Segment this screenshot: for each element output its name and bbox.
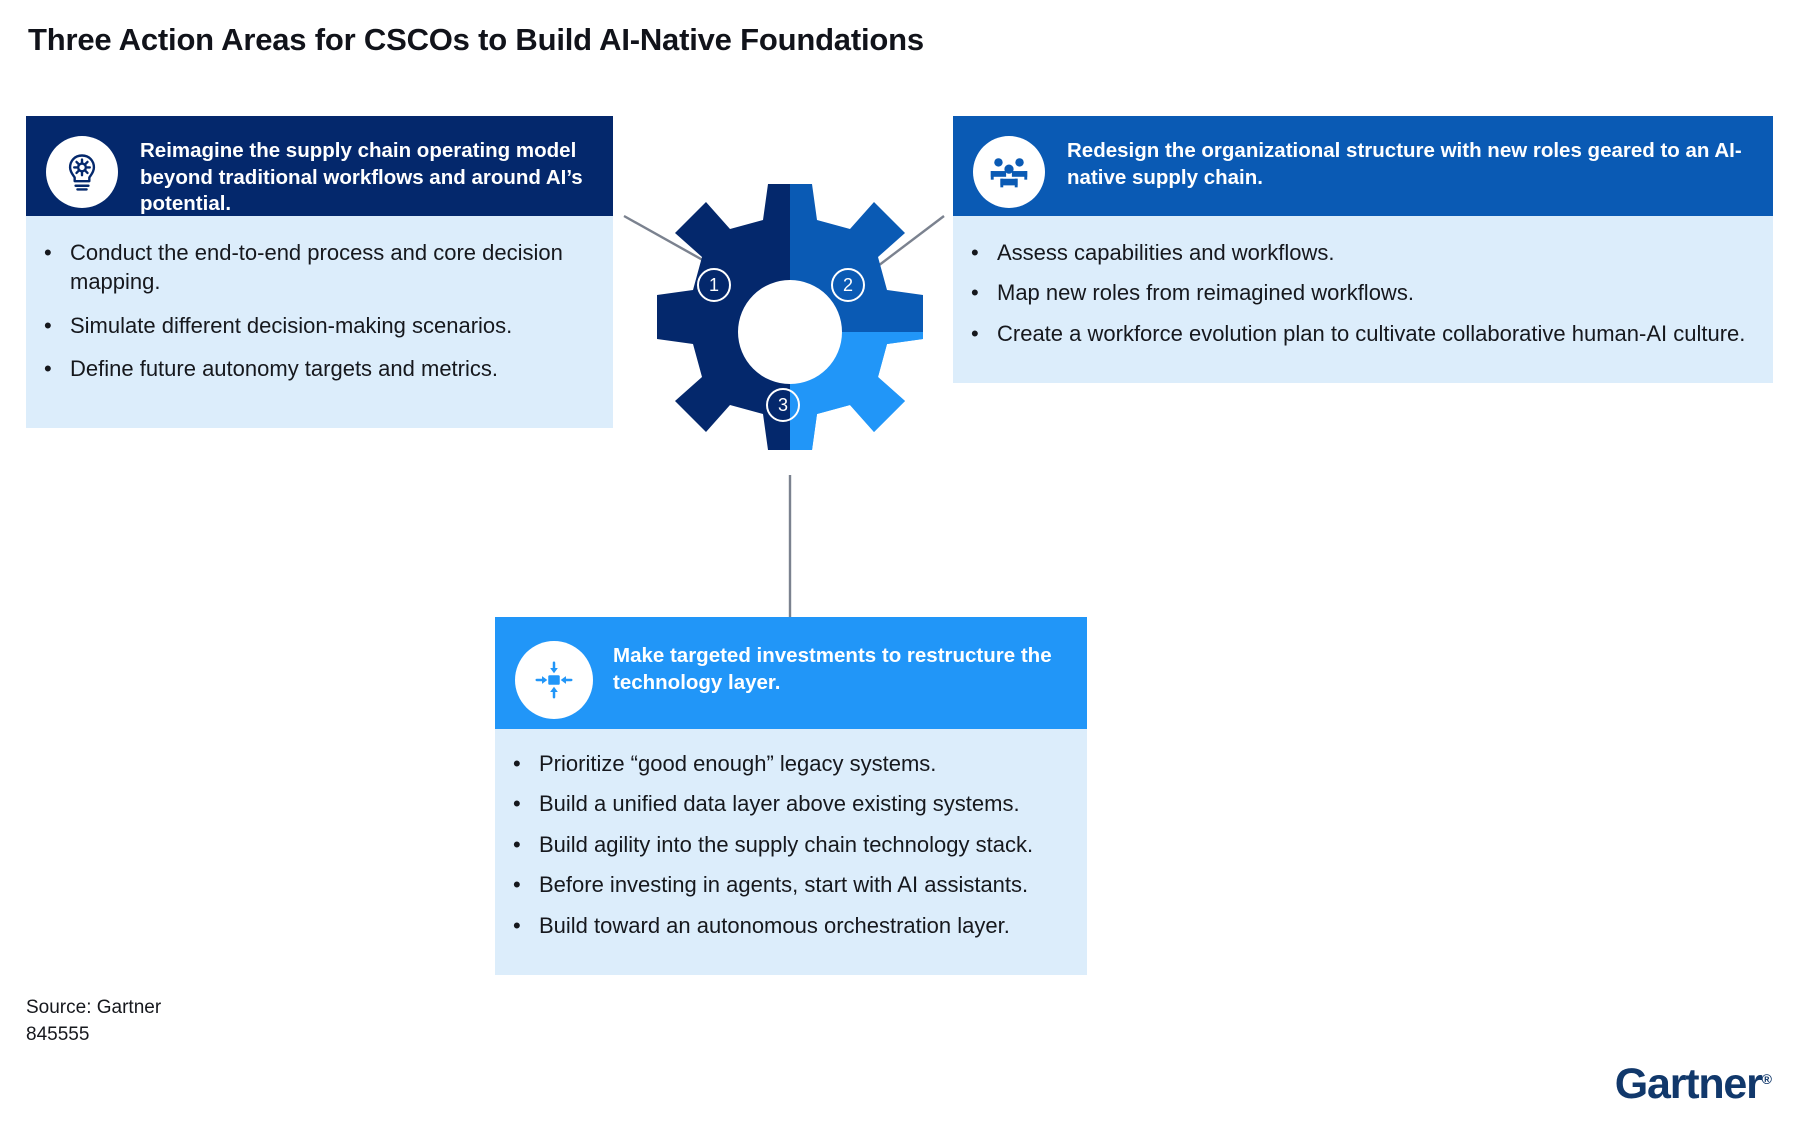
source-label: Source: Gartner xyxy=(26,995,161,1022)
bullet-text: Map new roles from reimagined workflows. xyxy=(997,278,1755,307)
list-item: •Build agility into the supply chain tec… xyxy=(513,830,1069,859)
action-card-redesign: Redesign the organizational structure wi… xyxy=(953,116,1773,383)
bullet-text: Build agility into the supply chain tech… xyxy=(539,830,1069,859)
list-item: •Build a unified data layer above existi… xyxy=(513,789,1069,818)
list-item: •Map new roles from reimagined workflows… xyxy=(971,278,1755,307)
list-item: •Define future autonomy targets and metr… xyxy=(44,354,595,383)
source-attribution: Source: Gartner 845555 xyxy=(26,995,161,1049)
page-title: Three Action Areas for CSCOs to Build AI… xyxy=(28,22,924,58)
bullet-dot: • xyxy=(44,238,52,267)
gear-graphic: 1 2 3 xyxy=(645,180,935,480)
bullet-dot: • xyxy=(971,278,979,307)
list-item: •Prioritize “good enough” legacy systems… xyxy=(513,749,1069,778)
bullet-list: •Prioritize “good enough” legacy systems… xyxy=(513,749,1069,940)
list-item: •Before investing in agents, start with … xyxy=(513,870,1069,899)
list-item: •Assess capabilities and workflows. xyxy=(971,238,1755,267)
bullet-dot: • xyxy=(513,830,521,859)
document-id: 845555 xyxy=(26,1022,161,1049)
gear-center-hole xyxy=(738,280,842,384)
list-item: •Create a workforce evolution plan to cu… xyxy=(971,319,1755,348)
list-item: •Build toward an autonomous orchestratio… xyxy=(513,911,1069,940)
bullet-dot: • xyxy=(513,789,521,818)
bullet-text: Prioritize “good enough” legacy systems. xyxy=(539,749,1069,778)
gear-svg xyxy=(645,180,935,480)
registered-mark: ® xyxy=(1762,1071,1772,1087)
bullet-text: Before investing in agents, start with A… xyxy=(539,870,1069,899)
gear-badge-3: 3 xyxy=(766,388,800,422)
bullet-dot: • xyxy=(44,311,52,340)
gear-badge-1: 1 xyxy=(697,268,731,302)
action-card-invest: Make targeted investments to restructure… xyxy=(495,617,1087,975)
list-item: •Conduct the end-to-end process and core… xyxy=(44,238,595,297)
card-header: Make targeted investments to restructure… xyxy=(495,617,1087,729)
bullet-text: Conduct the end-to-end process and core … xyxy=(70,238,595,297)
card-heading: Reimagine the supply chain operating mod… xyxy=(140,138,597,218)
card-body: •Conduct the end-to-end process and core… xyxy=(26,216,613,428)
gear-badge-2: 2 xyxy=(831,268,865,302)
bullet-list: •Conduct the end-to-end process and core… xyxy=(44,238,595,384)
card-body: •Prioritize “good enough” legacy systems… xyxy=(495,729,1087,975)
card-heading: Make targeted investments to restructure… xyxy=(613,643,1071,696)
list-item: •Simulate different decision-making scen… xyxy=(44,311,595,340)
bullet-dot: • xyxy=(513,870,521,899)
bullet-list: •Assess capabilities and workflows. •Map… xyxy=(971,238,1755,348)
card-heading: Redesign the organizational structure wi… xyxy=(1067,138,1757,191)
converging-arrows-icon xyxy=(515,641,593,719)
bullet-text: Build a unified data layer above existin… xyxy=(539,789,1069,818)
bullet-text: Define future autonomy targets and metri… xyxy=(70,354,595,383)
action-card-reimagine: Reimagine the supply chain operating mod… xyxy=(26,116,613,428)
bullet-dot: • xyxy=(971,319,979,348)
people-group-icon xyxy=(973,136,1045,208)
bullet-dot: • xyxy=(971,238,979,267)
bullet-text: Build toward an autonomous orchestration… xyxy=(539,911,1069,940)
gartner-logo: Gartner® xyxy=(1615,1060,1772,1109)
bullet-text: Assess capabilities and workflows. xyxy=(997,238,1755,267)
bullet-dot: • xyxy=(44,354,52,383)
bullet-dot: • xyxy=(513,749,521,778)
bullet-dot: • xyxy=(513,911,521,940)
bullet-text: Create a workforce evolution plan to cul… xyxy=(997,319,1755,348)
card-header: Reimagine the supply chain operating mod… xyxy=(26,116,613,216)
lightbulb-gear-icon xyxy=(46,136,118,208)
gartner-logo-text: Gartner xyxy=(1615,1060,1762,1108)
bullet-text: Simulate different decision-making scena… xyxy=(70,311,595,340)
card-body: •Assess capabilities and workflows. •Map… xyxy=(953,216,1773,383)
card-header: Redesign the organizational structure wi… xyxy=(953,116,1773,216)
